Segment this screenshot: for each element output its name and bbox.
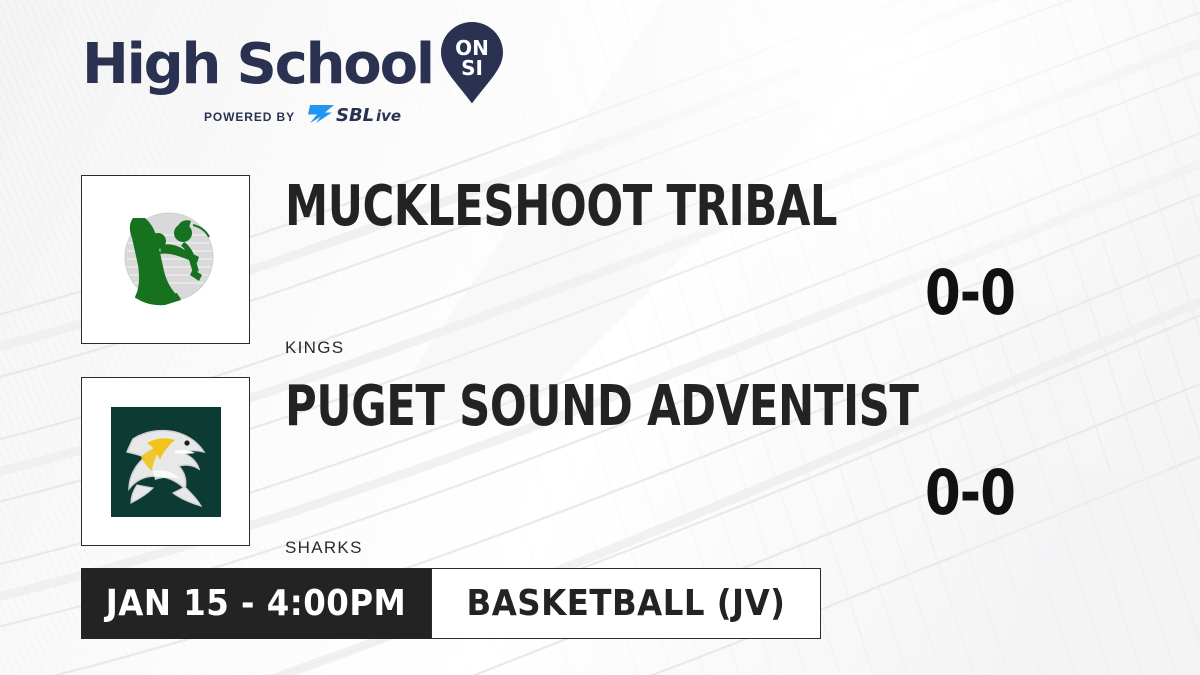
svg-text:ive: ive [376, 107, 401, 125]
on-si-pin-line2: SI [461, 56, 483, 80]
sblive-logo-icon: SBL ive [304, 103, 414, 130]
game-matchup-card: High School ON SI POWERED BY SBL ive [0, 0, 1200, 675]
game-info-bar: JAN 15 - 4:00PM BASKETBALL (JV) [81, 568, 821, 639]
svg-text:SBL: SBL [336, 105, 374, 125]
powered-by-label: POWERED BY [204, 110, 295, 124]
brand-wordmark: High School [82, 37, 433, 93]
on-si-pin-icon: ON SI [441, 22, 503, 109]
away-team-logo-box [81, 175, 250, 344]
archer-warrior-icon [82, 176, 249, 343]
home-team-name: PUGET SOUND ADVENTIST [285, 379, 919, 435]
home-team-mascot: SHARKS [285, 538, 363, 558]
brand-logo-row: High School ON SI [82, 34, 502, 96]
game-sport: BASKETBALL (JV) [431, 568, 821, 639]
away-team-name: MUCKLESHOOT TRIBAL [285, 179, 837, 235]
away-team-mascot: KINGS [285, 338, 344, 358]
home-team-logo-box [81, 377, 250, 546]
brand-header: High School ON SI POWERED BY SBL ive [82, 34, 502, 130]
shark-icon [82, 378, 249, 545]
game-datetime: JAN 15 - 4:00PM [81, 568, 431, 639]
home-team-record: 0-0 [896, 462, 1043, 524]
away-team-record: 0-0 [896, 262, 1043, 324]
